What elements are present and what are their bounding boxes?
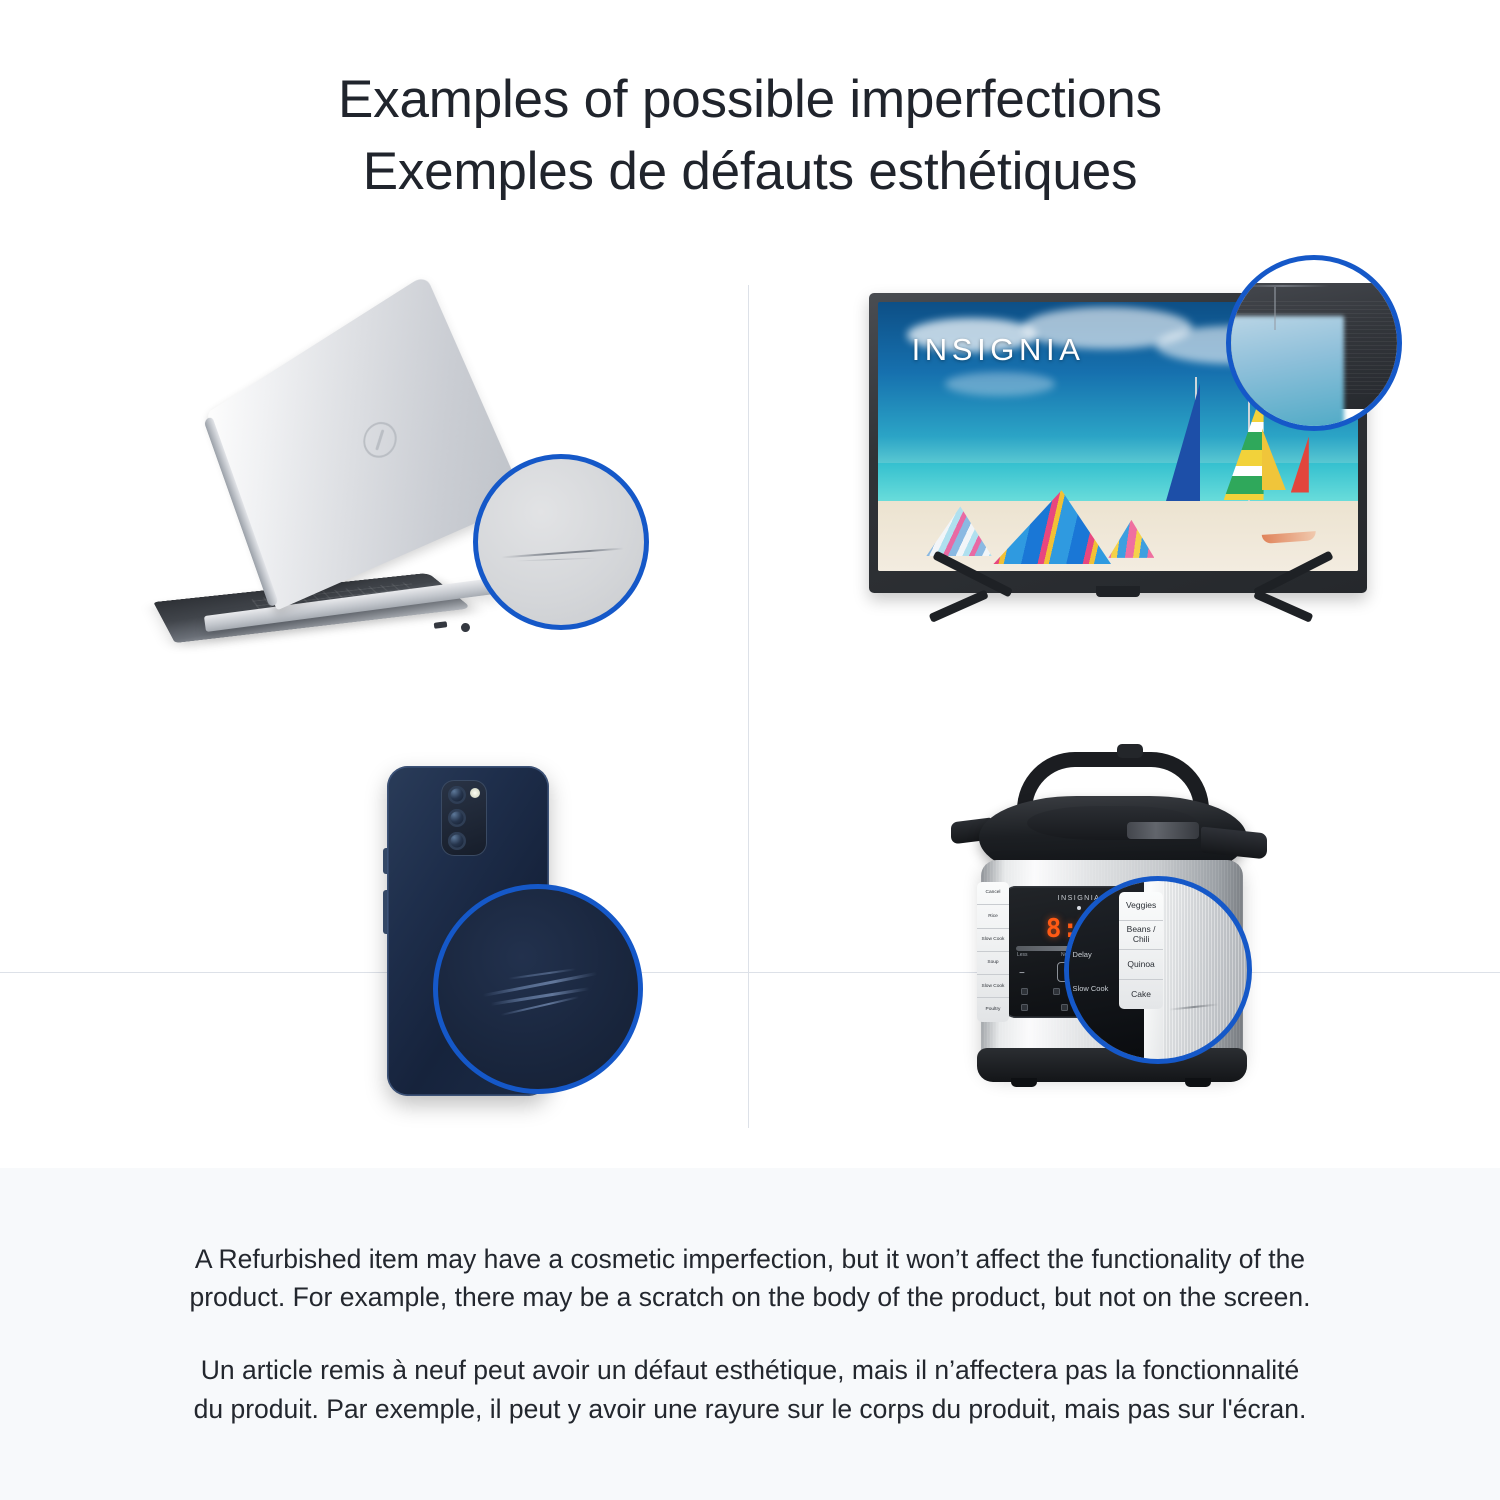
- panel-pressure-cooker: Cancel Rice Slow Cook Soup Slow Cook Pou…: [749, 728, 1500, 1168]
- cooker-zoom-button-column: Veggies Beans / Chili Quinoa Cake: [1119, 892, 1164, 1009]
- cooker-decrease-button[interactable]: −: [1019, 968, 1025, 979]
- blue-sail: [1166, 383, 1200, 501]
- panel-laptop: [0, 245, 748, 727]
- cooker-zoom-button: Beans / Chili: [1119, 921, 1164, 950]
- panel-television: INSIGNIA: [749, 245, 1500, 727]
- cooker-lid-top: [1027, 806, 1197, 840]
- cooker-button[interactable]: Cancel: [977, 882, 1009, 905]
- cooker-keypad-button[interactable]: [1021, 1004, 1028, 1011]
- cooker-zoom-button: Quinoa: [1119, 950, 1164, 979]
- tv-scuff-mark: [1274, 287, 1276, 330]
- refurbished-imperfections-infographic: Examples of possible imperfections Exemp…: [0, 0, 1500, 1500]
- product-examples-grid: INSIGNIA: [0, 245, 1500, 1168]
- cooker-button[interactable]: Soup: [977, 952, 1009, 975]
- camera-lens: [448, 832, 466, 850]
- cooker-zoom-left-label: Delay: [1073, 950, 1092, 959]
- panel-smartphone: [0, 728, 748, 1168]
- tv-scuff-mark-secondary: [1236, 285, 1329, 287]
- tv-ir-receiver: [1096, 586, 1140, 597]
- tv-screen-brand-logo: INSIGNIA: [912, 332, 1085, 368]
- page-title: Examples of possible imperfections Exemp…: [0, 0, 1500, 245]
- cooker-button[interactable]: Rice: [977, 905, 1009, 928]
- cooker-zoom-button: Veggies: [1119, 892, 1164, 921]
- title-english: Examples of possible imperfections: [338, 64, 1162, 136]
- cooker-left-button-column[interactable]: Cancel Rice Slow Cook Soup Slow Cook Pou…: [977, 882, 1009, 1022]
- title-french: Exemples de défauts esthétiques: [363, 136, 1138, 208]
- laptop-scratch-mark: [501, 547, 624, 558]
- pressure-cooker-illustration: Cancel Rice Slow Cook Soup Slow Cook Pou…: [949, 748, 1309, 1118]
- cooker-keypad-button[interactable]: [1061, 1004, 1068, 1011]
- cooker-zoom-left-label: Slow Cook: [1073, 984, 1109, 993]
- cooker-button[interactable]: Slow Cook: [977, 975, 1009, 998]
- cooker-button[interactable]: Slow Cook: [977, 929, 1009, 952]
- camera-flash-icon: [470, 788, 480, 798]
- smartphone-illustration: [345, 766, 645, 1126]
- laptop-brand-logo-icon: [357, 414, 403, 464]
- tv-foot-right: [1253, 589, 1313, 622]
- laptop-usb-port: [434, 621, 448, 629]
- cloud: [945, 372, 1055, 396]
- cooker-zoom-button: Cake: [1119, 980, 1164, 1009]
- laptop-round-port: [460, 622, 470, 632]
- phone-scratch-mark: [483, 972, 597, 997]
- cooker-handle-knob: [1117, 744, 1143, 758]
- stainless-grain-zoom: [1163, 881, 1247, 1059]
- slider-label-less: Less: [1017, 952, 1028, 958]
- cooker-foot: [1011, 1078, 1037, 1087]
- magnifier-circle-pressure-cooker: Delay Slow Cook Veggies Beans / Chili Qu…: [1064, 876, 1252, 1064]
- cooker-keypad-button[interactable]: [1053, 988, 1060, 995]
- camera-lens: [448, 809, 466, 827]
- camera-lens: [448, 786, 466, 804]
- laptop-scratch-mark-secondary: [515, 557, 598, 561]
- cooker-foot: [1185, 1078, 1211, 1087]
- magnifier-circle-laptop: [473, 454, 649, 630]
- footer-paragraph-english: A Refurbished item may have a cosmetic i…: [183, 1240, 1318, 1317]
- cooker-button[interactable]: Poultry: [977, 998, 1009, 1021]
- tv-foot-left: [929, 589, 989, 622]
- footer-paragraph-french: Un article remis à neuf peut avoir un dé…: [183, 1351, 1318, 1428]
- phone-camera-module: [441, 780, 487, 856]
- television-illustration: INSIGNIA: [869, 293, 1389, 673]
- laptop-lid-edge: [204, 416, 279, 608]
- magnifier-circle-television: [1226, 255, 1402, 431]
- sea: [878, 463, 1358, 506]
- tv-screen-corner-zoom: [1226, 316, 1344, 431]
- cooker-keypad-button[interactable]: [1021, 988, 1028, 995]
- magnifier-circle-smartphone: [433, 884, 643, 1094]
- cooker-steam-valve: [1127, 822, 1199, 839]
- laptop-illustration: [175, 370, 555, 660]
- footer-description: A Refurbished item may have a cosmetic i…: [0, 1168, 1500, 1500]
